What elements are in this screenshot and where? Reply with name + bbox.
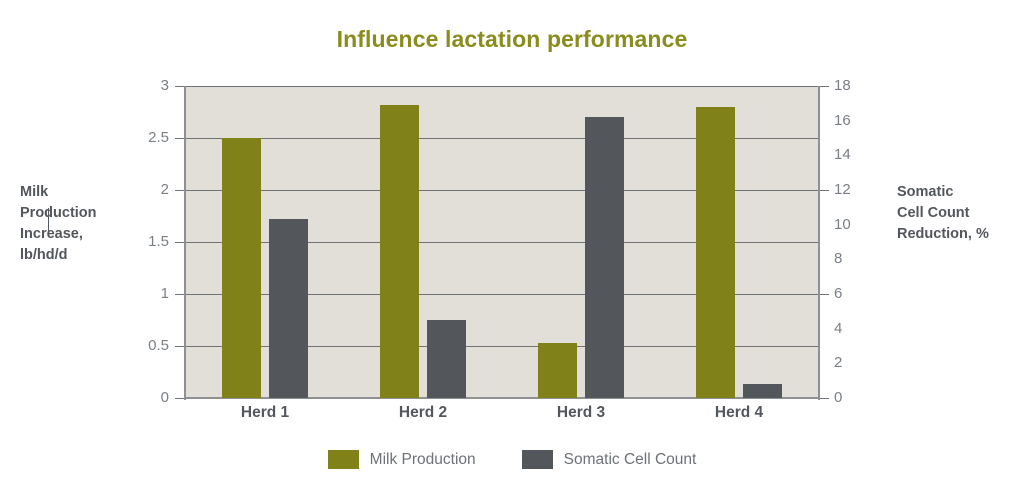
legend-label: Somatic Cell Count [564, 451, 697, 469]
left-axis-tick [175, 86, 184, 87]
right-axis-spine [818, 86, 820, 400]
category-label: Herd 3 [521, 404, 641, 422]
chart-legend: Milk ProductionSomatic Cell Count [0, 450, 1024, 469]
category-label: Herd 1 [205, 404, 325, 422]
right-tick-label: 8 [834, 251, 842, 266]
category-label: Herd 4 [679, 404, 799, 422]
right-axis-tick [820, 190, 829, 191]
right-tick-label: 12 [834, 182, 851, 197]
right-tick-label: 16 [834, 113, 851, 128]
category-label: Herd 2 [363, 404, 483, 422]
right-tick-label: 6 [834, 286, 842, 301]
legend-label: Milk Production [370, 451, 476, 469]
legend-item[interactable]: Somatic Cell Count [522, 450, 697, 469]
right-axis-tick [820, 86, 829, 87]
bar-somatic-cell-count [269, 219, 308, 398]
bar-somatic-cell-count [585, 117, 624, 398]
left-tick-label: 2.5 [148, 130, 169, 145]
left-tick-label: 1.5 [148, 234, 169, 249]
right-axis-tick [820, 294, 829, 295]
right-tick-label: 14 [834, 147, 851, 162]
left-tick-label: 0 [161, 390, 169, 405]
bar-somatic-cell-count [743, 384, 782, 398]
bar-milk-production [380, 105, 419, 398]
bar-milk-production [222, 138, 261, 398]
right-tick-label: 2 [834, 355, 842, 370]
left-axis-tick [175, 138, 184, 139]
right-axis-title: Somatic Cell Count Reduction, % [897, 182, 1022, 245]
left-axis-tick [175, 242, 184, 243]
right-tick-label: 0 [834, 390, 842, 405]
right-tick-label: 4 [834, 321, 842, 336]
chart-container: Influence lactation performance Milk Pro… [0, 0, 1024, 478]
bar-milk-production [696, 107, 735, 398]
left-axis-tick [175, 346, 184, 347]
legend-swatch [522, 450, 553, 469]
text-cursor-artifact [48, 208, 49, 231]
left-tick-label: 0.5 [148, 338, 169, 353]
chart-title: Influence lactation performance [0, 26, 1024, 53]
right-tick-label: 10 [834, 217, 851, 232]
right-axis-tick [820, 398, 829, 399]
gridline [186, 86, 818, 87]
left-tick-label: 3 [161, 78, 169, 93]
left-axis-title: Milk Production Increase, lb/hd/d [20, 182, 140, 266]
left-axis-tick [175, 398, 184, 399]
legend-item[interactable]: Milk Production [328, 450, 476, 469]
legend-swatch [328, 450, 359, 469]
left-tick-label: 2 [161, 182, 169, 197]
left-tick-label: 1 [161, 286, 169, 301]
left-axis-tick [175, 190, 184, 191]
left-axis-tick [175, 294, 184, 295]
right-tick-label: 18 [834, 78, 851, 93]
bar-milk-production [538, 343, 577, 398]
bar-somatic-cell-count [427, 320, 466, 398]
